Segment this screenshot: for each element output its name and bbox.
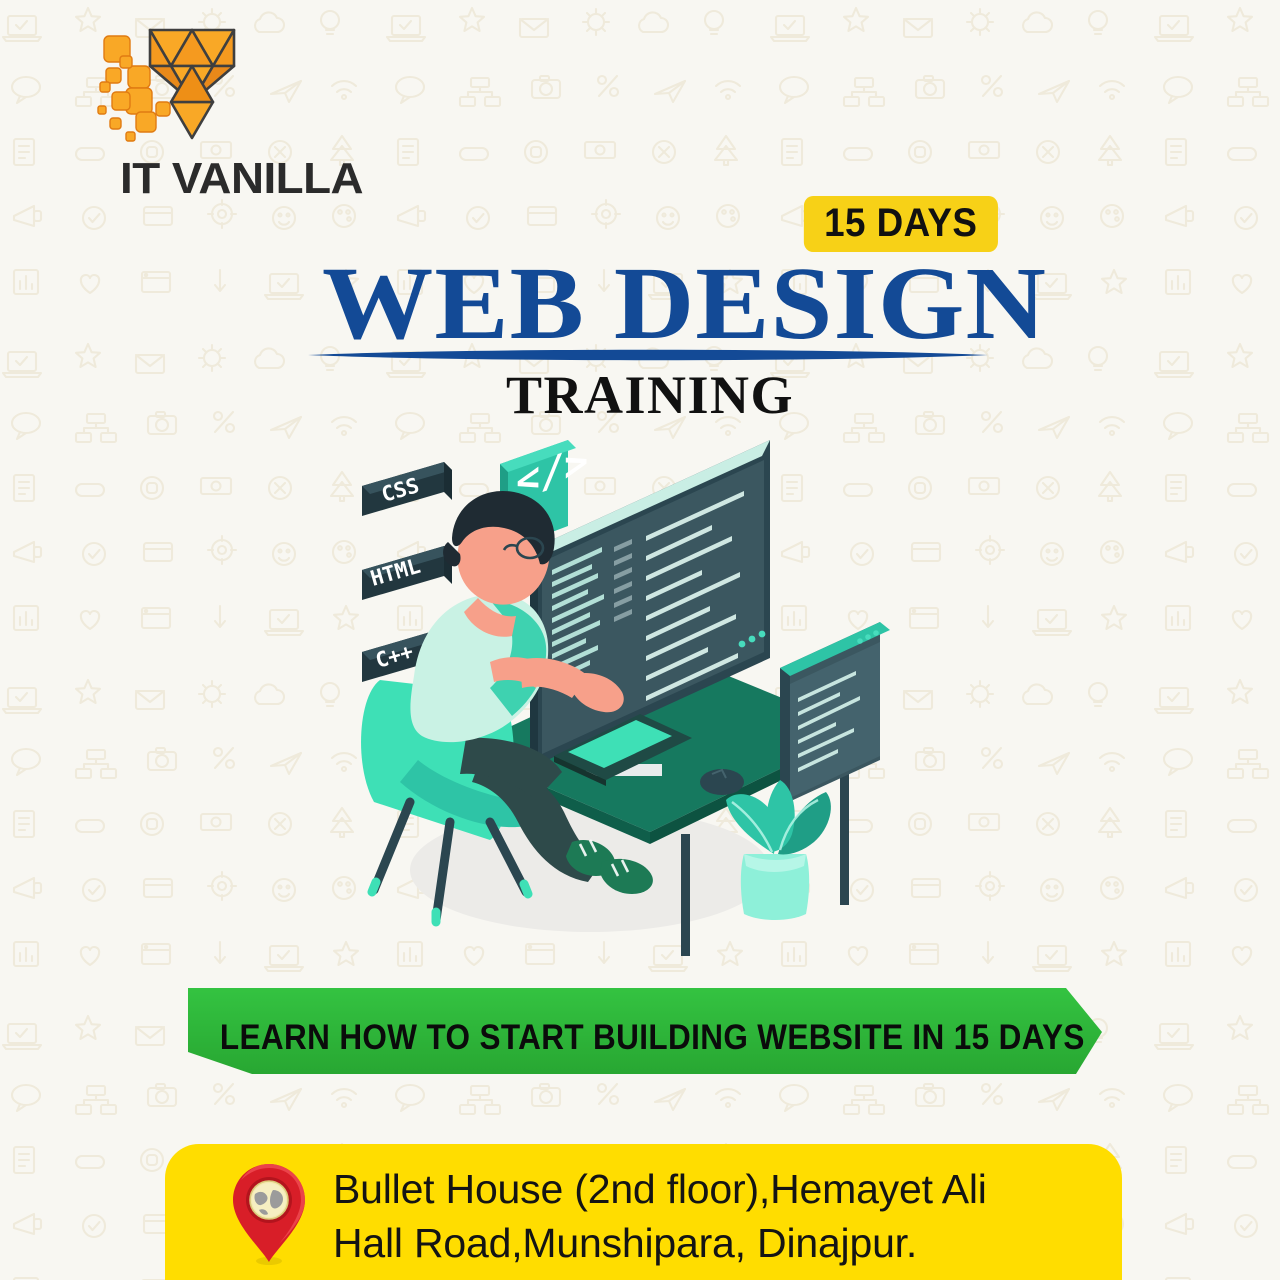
svg-text:CSS: CSS [379,473,422,507]
address-text: Bullet House (2nd floor),Hemayet Ali Hal… [333,1162,1093,1270]
tagline-text: LEARN HOW TO START BUILDING WEBSITE IN 1… [232,986,1060,1090]
isometric-developer-illustration: CSS HTML C++ </> [340,430,960,970]
lens-divider-icon [308,348,988,362]
page-title: WEB DESIGN [322,252,1047,356]
page-subtitle: TRAINING [300,368,1000,422]
v-triangles-logo-icon [92,26,292,151]
code-tag-html: HTML [362,546,452,600]
poster-canvas: IT VANILLA 15 DAYS WEB DESIGN TRAINING C… [0,0,1280,1280]
headline-group: 15 DAYS WEB DESIGN TRAINING [300,196,1000,436]
map-pin-globe-icon [227,1162,311,1266]
address-line-2: Hall Road,Munshipara, Dinajpur. [333,1216,1093,1270]
mouse [700,769,744,795]
brand-logo[interactable]: IT VANILLA [72,26,342,206]
address-bar: Bullet House (2nd floor),Hemayet Ali Hal… [165,1144,1122,1280]
tagline-ribbon: LEARN HOW TO START BUILDING WEBSITE IN 1… [186,986,1106,1090]
address-line-1: Bullet House (2nd floor),Hemayet Ali [333,1162,1093,1216]
duration-badge: 15 DAYS [804,196,998,252]
floating-code-window [780,622,890,806]
code-tag-css: CSS [362,462,452,516]
